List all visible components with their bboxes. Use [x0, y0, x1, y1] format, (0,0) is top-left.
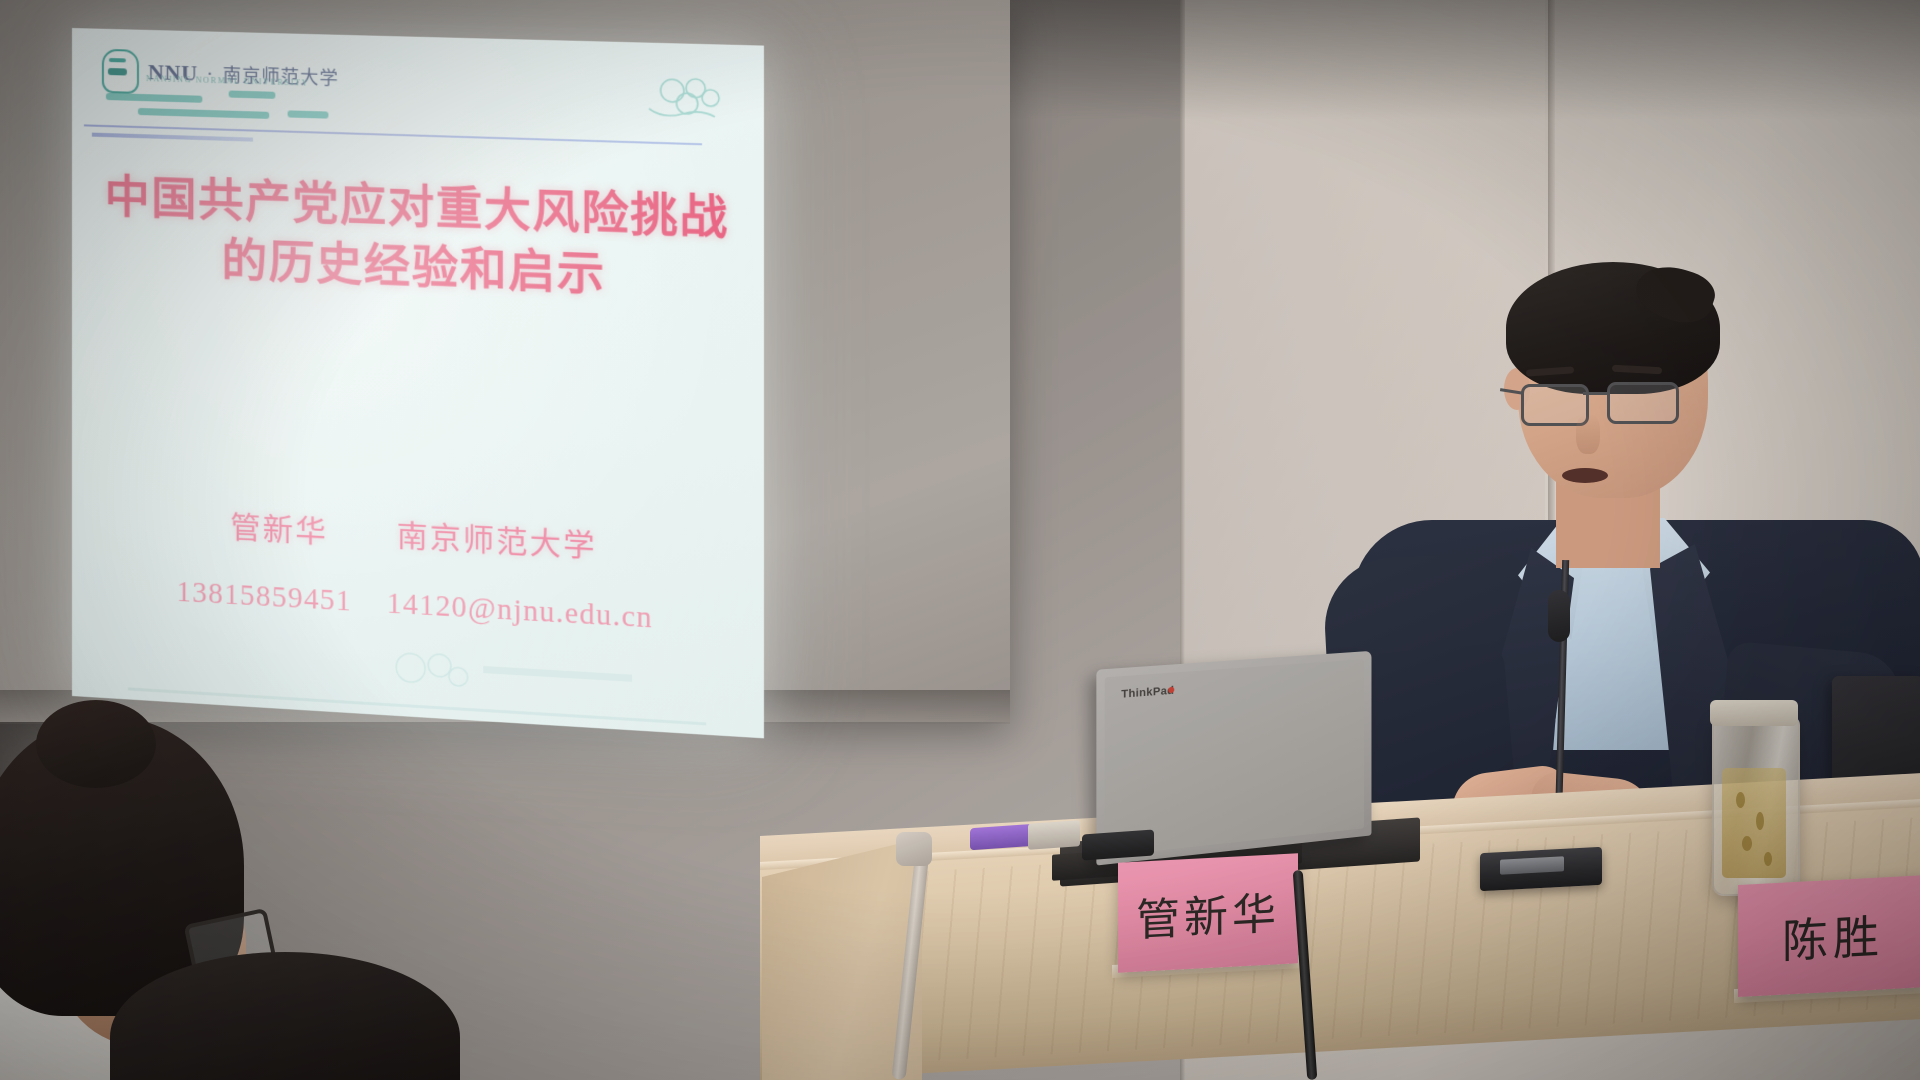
glasses-lens-right	[1607, 382, 1679, 424]
placard-1-name: 管新华	[1136, 877, 1280, 949]
mic-head-icon	[1548, 590, 1570, 642]
deco-bar-1	[106, 93, 202, 103]
contact-email: 14120@njnu.edu.cn	[387, 587, 653, 634]
lecture-hall-photo: NNU · 南京师范大学 NANJING NORMAL UNIVERSITY 中…	[0, 0, 1920, 1080]
tumbler-lid	[1710, 700, 1798, 726]
cable-ferrite-bead	[896, 832, 932, 866]
tea-leaf	[1742, 836, 1752, 851]
purple-adapter	[970, 824, 1036, 851]
author-affiliation: 南京师范大学	[397, 518, 597, 564]
white-adapter	[1028, 820, 1080, 850]
speaker-nose	[1576, 414, 1600, 454]
footer-cloud-ornament-icon	[369, 641, 493, 705]
tumbler-tea-contents	[1722, 768, 1786, 878]
speaker-mouth-inner	[1562, 468, 1608, 483]
audience-hair-bun	[36, 700, 156, 788]
tea-leaf	[1756, 812, 1764, 830]
deco-bar-3	[138, 108, 269, 119]
deco-bar-2	[229, 90, 276, 98]
slide-author: 管新华 南京师范大学	[72, 494, 764, 574]
footer-bar	[483, 666, 632, 682]
slide-logo: NNU · 南京师范大学	[102, 49, 339, 100]
slide-contact: 13815859451 14120@njnu.edu.cn	[72, 570, 764, 642]
name-placard-2: 陈胜	[1738, 875, 1920, 997]
contact-phone: 13815859451	[176, 576, 352, 618]
presentation-slide: NNU · 南京师范大学 NANJING NORMAL UNIVERSITY 中…	[72, 28, 764, 738]
slide-title: 中国共产党应对重大风险挑战 的历史经验和启示	[72, 166, 764, 312]
deco-bar-4	[288, 110, 329, 118]
presenter-remote	[1082, 829, 1154, 860]
glasses-bridge	[1583, 392, 1607, 395]
name-placard-1: 管新华	[1118, 853, 1298, 972]
placard-2-name: 陈胜	[1782, 900, 1884, 971]
tea-leaf	[1764, 852, 1772, 866]
header-rule-accent	[92, 133, 253, 142]
nnu-crest-icon	[102, 49, 139, 94]
author-spacer	[340, 543, 385, 545]
author-name: 管新华	[230, 510, 328, 550]
cloud-ornament-icon	[641, 73, 735, 123]
tea-leaf	[1736, 792, 1745, 808]
